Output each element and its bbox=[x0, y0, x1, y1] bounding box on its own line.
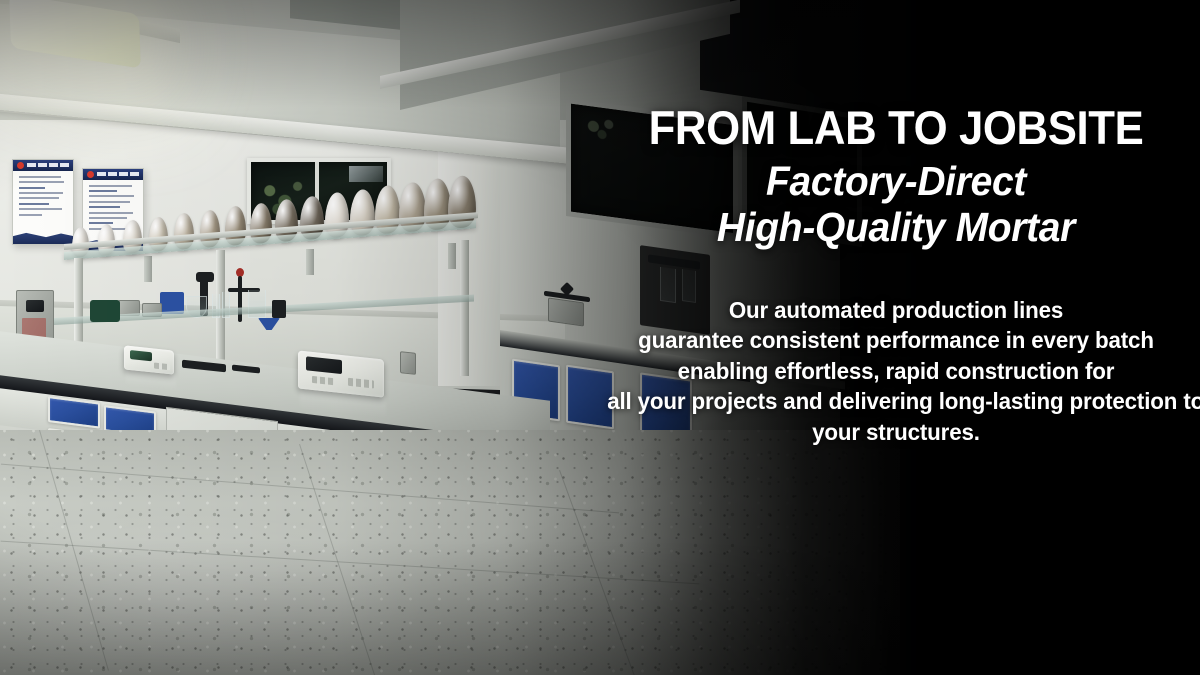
floor-speckle-texture bbox=[0, 430, 900, 675]
body-copy-line: enabling effortless, rapid construction … bbox=[607, 356, 1185, 387]
body-copy-line: your structures. bbox=[607, 417, 1185, 448]
poster-header bbox=[83, 169, 143, 180]
analyzer-display bbox=[306, 356, 342, 374]
balance-keypad bbox=[154, 363, 170, 371]
clamp-head bbox=[196, 272, 214, 282]
stand-rod bbox=[238, 276, 242, 322]
body-copy-line: guarantee consistent performance in ever… bbox=[607, 325, 1185, 356]
shelf-post bbox=[460, 240, 469, 376]
sample-container bbox=[400, 351, 416, 375]
body-copy-line: all your projects and delivering long-la… bbox=[607, 386, 1185, 417]
analyzer-keypad bbox=[312, 376, 334, 385]
cabinet-display bbox=[26, 300, 44, 312]
poster-footer-wave bbox=[13, 230, 73, 244]
poster-title-text bbox=[97, 172, 139, 176]
hero-banner: FROM LAB TO JOBSITE Factory-Direct High-… bbox=[0, 0, 1200, 675]
grey-apparatus bbox=[548, 297, 584, 326]
poster-body bbox=[13, 171, 73, 224]
analyzer-keypad bbox=[348, 378, 374, 389]
banner-body-copy: Our automated production lines guarantee… bbox=[607, 295, 1185, 448]
poster-badge-icon bbox=[17, 162, 24, 169]
body-copy-line: Our automated production lines bbox=[607, 295, 1185, 326]
poster-header bbox=[13, 160, 73, 171]
shelf-bracket bbox=[144, 256, 152, 282]
banner-subtitle-line-1: Factory-Direct bbox=[607, 159, 1185, 205]
terrazzo-floor bbox=[0, 430, 900, 675]
poster-badge-icon bbox=[87, 171, 94, 178]
banner-copy-block: FROM LAB TO JOBSITE Factory-Direct High-… bbox=[592, 104, 1200, 447]
balance-display bbox=[130, 350, 152, 361]
banner-headline: FROM LAB TO JOBSITE bbox=[613, 104, 1178, 153]
banner-subtitle-line-2: High-Quality Mortar bbox=[607, 205, 1185, 251]
shelf-bracket bbox=[306, 249, 314, 275]
banner-subtitle: Factory-Direct High-Quality Mortar bbox=[592, 159, 1200, 251]
poster-title-text bbox=[27, 163, 69, 167]
safety-notice-poster-1 bbox=[12, 159, 74, 245]
green-equipment bbox=[90, 300, 120, 322]
shelf-bracket bbox=[448, 243, 456, 269]
dark-funnel bbox=[272, 300, 286, 318]
